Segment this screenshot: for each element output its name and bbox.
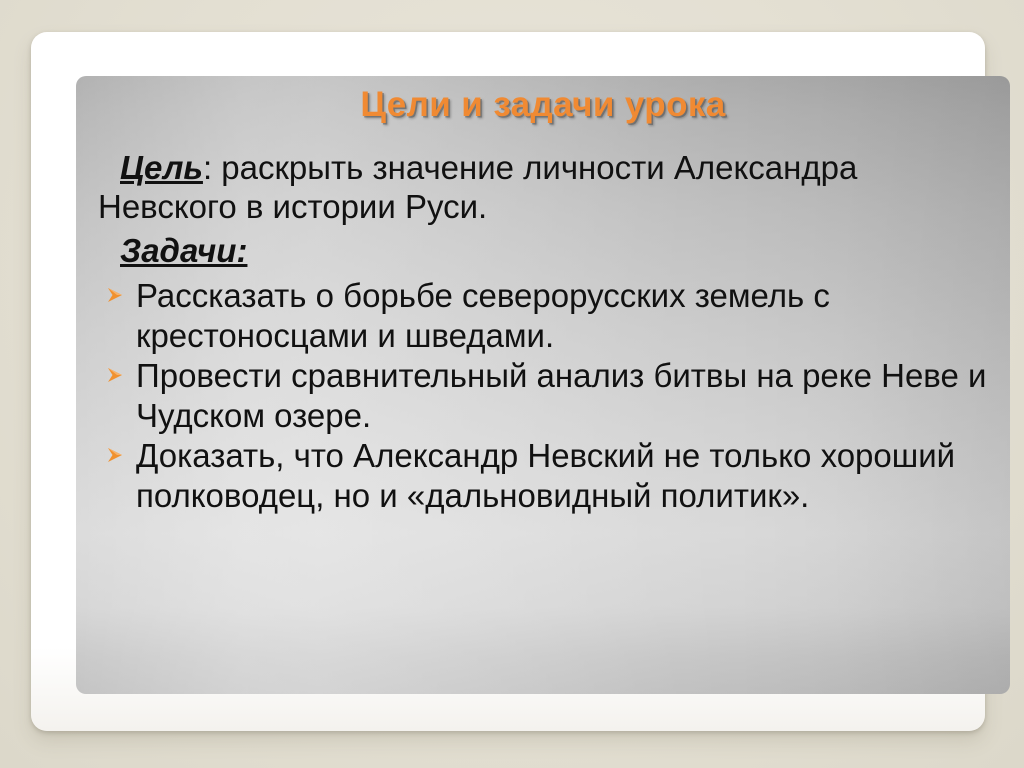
arrowhead-bullet-icon [104, 284, 126, 306]
arrowhead-bullet-icon [104, 364, 126, 386]
task-text: Доказать, что Александр Невский не тольк… [136, 437, 955, 514]
task-list-item: Рассказать о борьбе северорусских земель… [98, 276, 992, 356]
slide-content-panel: Цели и задачи урока Цель: раскрыть значе… [76, 76, 1010, 694]
slide-stage: Цели и задачи урока Цель: раскрыть значе… [0, 0, 1024, 768]
slide-title: Цели и задачи урока [76, 76, 1010, 125]
tasks-heading: Задачи: [98, 231, 992, 271]
task-list-item: Доказать, что Александр Невский не тольк… [98, 436, 992, 516]
goal-paragraph: Цель: раскрыть значение личности Алексан… [98, 149, 992, 227]
goal-label: Цель [120, 149, 203, 186]
goal-separator: : [203, 149, 221, 186]
arrowhead-bullet-icon [104, 444, 126, 466]
task-text: Рассказать о борьбе северорусских земель… [136, 277, 830, 354]
task-text: Провести сравнительный анализ битвы на р… [136, 357, 986, 434]
tasks-list: Рассказать о борьбе северорусских земель… [98, 276, 992, 516]
slide-body: Цель: раскрыть значение личности Алексан… [76, 125, 1010, 516]
slide-card: Цели и задачи урока Цель: раскрыть значе… [31, 32, 985, 731]
task-list-item: Провести сравнительный анализ битвы на р… [98, 356, 992, 436]
